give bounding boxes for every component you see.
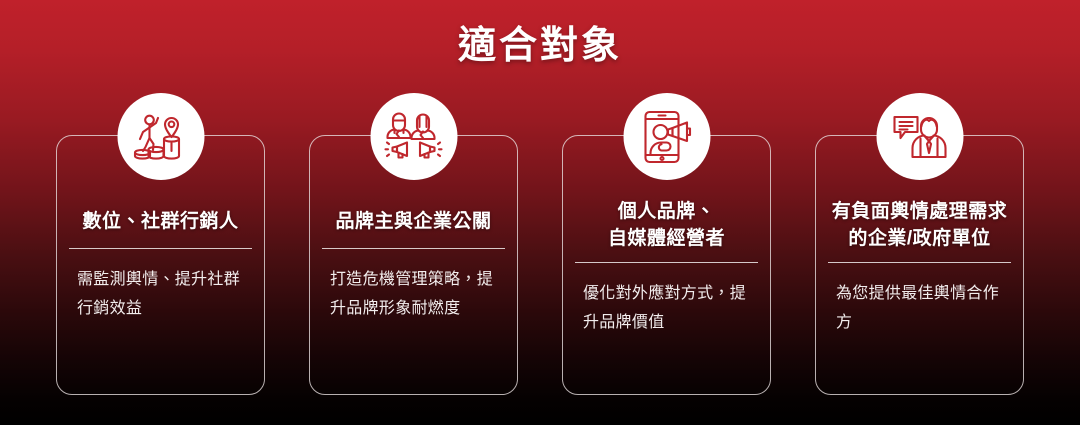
audience-card[interactable]: 個人品牌、 自媒體經營者 優化對外應對方式，提升品牌價值	[562, 135, 771, 395]
audience-card[interactable]: 品牌主與企業公關 打造危機管理策略，提升品牌形象耐燃度	[309, 135, 518, 395]
card-list: 數位、社群行銷人 需監測輿情、提升社群行銷效益	[56, 135, 1024, 397]
two-people-megaphones-icon	[370, 93, 457, 180]
card-divider	[828, 262, 1011, 263]
audience-card[interactable]: 數位、社群行銷人 需監測輿情、提升社群行銷效益	[56, 135, 265, 395]
smartphone-person-megaphone-icon	[623, 93, 710, 180]
card-body: 需監測輿情、提升社群行銷效益	[77, 265, 247, 323]
section-title: 適合對象	[0, 26, 1080, 68]
card-divider	[69, 248, 252, 249]
person-climbing-podium-location-pin-icon	[117, 93, 204, 180]
card-divider	[322, 248, 505, 249]
card-body: 為您提供最佳輿情合作方	[836, 279, 1006, 337]
card-title: 有負面輿情處理需求 的企業/政府單位	[824, 198, 1016, 252]
card-title: 品牌主與企業公關	[318, 208, 510, 235]
card-body: 優化對外應對方式，提升品牌價值	[583, 279, 753, 337]
card-body: 打造危機管理策略，提升品牌形象耐燃度	[330, 265, 500, 323]
card-divider	[575, 262, 758, 263]
audience-card[interactable]: 有負面輿情處理需求 的企業/政府單位 為您提供最佳輿情合作方	[815, 135, 1024, 395]
businessman-speech-bubble-icon	[876, 93, 963, 180]
suitable-audience-section: 適合對象	[0, 0, 1080, 425]
card-title: 數位、社群行銷人	[65, 208, 257, 235]
card-title: 個人品牌、 自媒體經營者	[571, 198, 763, 252]
